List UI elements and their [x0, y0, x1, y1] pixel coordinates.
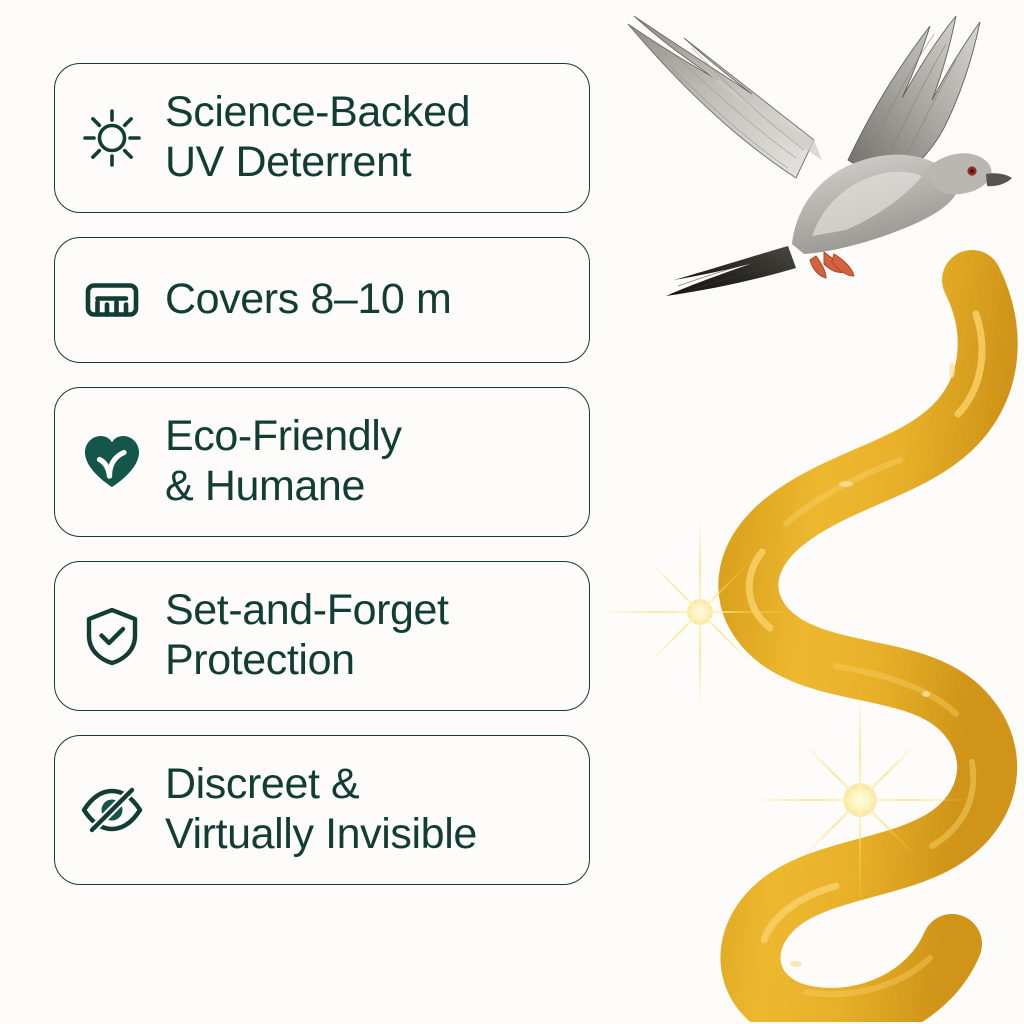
pigeon-beak	[986, 173, 1012, 186]
pigeon-wing-left	[628, 16, 822, 178]
feature-card-uv-deterrent[interactable]: Science-Backed UV Deterrent	[54, 63, 590, 213]
eye-off-icon	[81, 779, 143, 841]
heart-leaf-icon	[81, 431, 143, 493]
product-artwork	[600, 0, 1024, 1024]
infographic-canvas: Science-Backed UV Deterrent Covers 8–10 …	[0, 0, 1024, 1024]
shield-check-icon	[81, 605, 143, 667]
yellow-repellent-coil	[600, 222, 1024, 1022]
feature-label: Covers 8–10 m	[165, 275, 451, 325]
feature-label: Eco-Friendly & Humane	[165, 412, 402, 512]
feature-card-eco-friendly[interactable]: Eco-Friendly & Humane	[54, 387, 590, 537]
feature-list: Science-Backed UV Deterrent Covers 8–10 …	[54, 63, 590, 885]
feature-label: Science-Backed UV Deterrent	[165, 88, 470, 188]
ruler-measure-icon	[81, 269, 143, 331]
sun-uv-icon	[81, 107, 143, 169]
feature-label: Set-and-Forget Protection	[165, 586, 449, 686]
feature-card-coverage[interactable]: Covers 8–10 m	[54, 237, 590, 363]
feature-card-discreet[interactable]: Discreet & Virtually Invisible	[54, 735, 590, 885]
pigeon-head	[930, 153, 1012, 194]
feature-card-set-and-forget[interactable]: Set-and-Forget Protection	[54, 561, 590, 711]
feature-label: Discreet & Virtually Invisible	[165, 760, 477, 860]
